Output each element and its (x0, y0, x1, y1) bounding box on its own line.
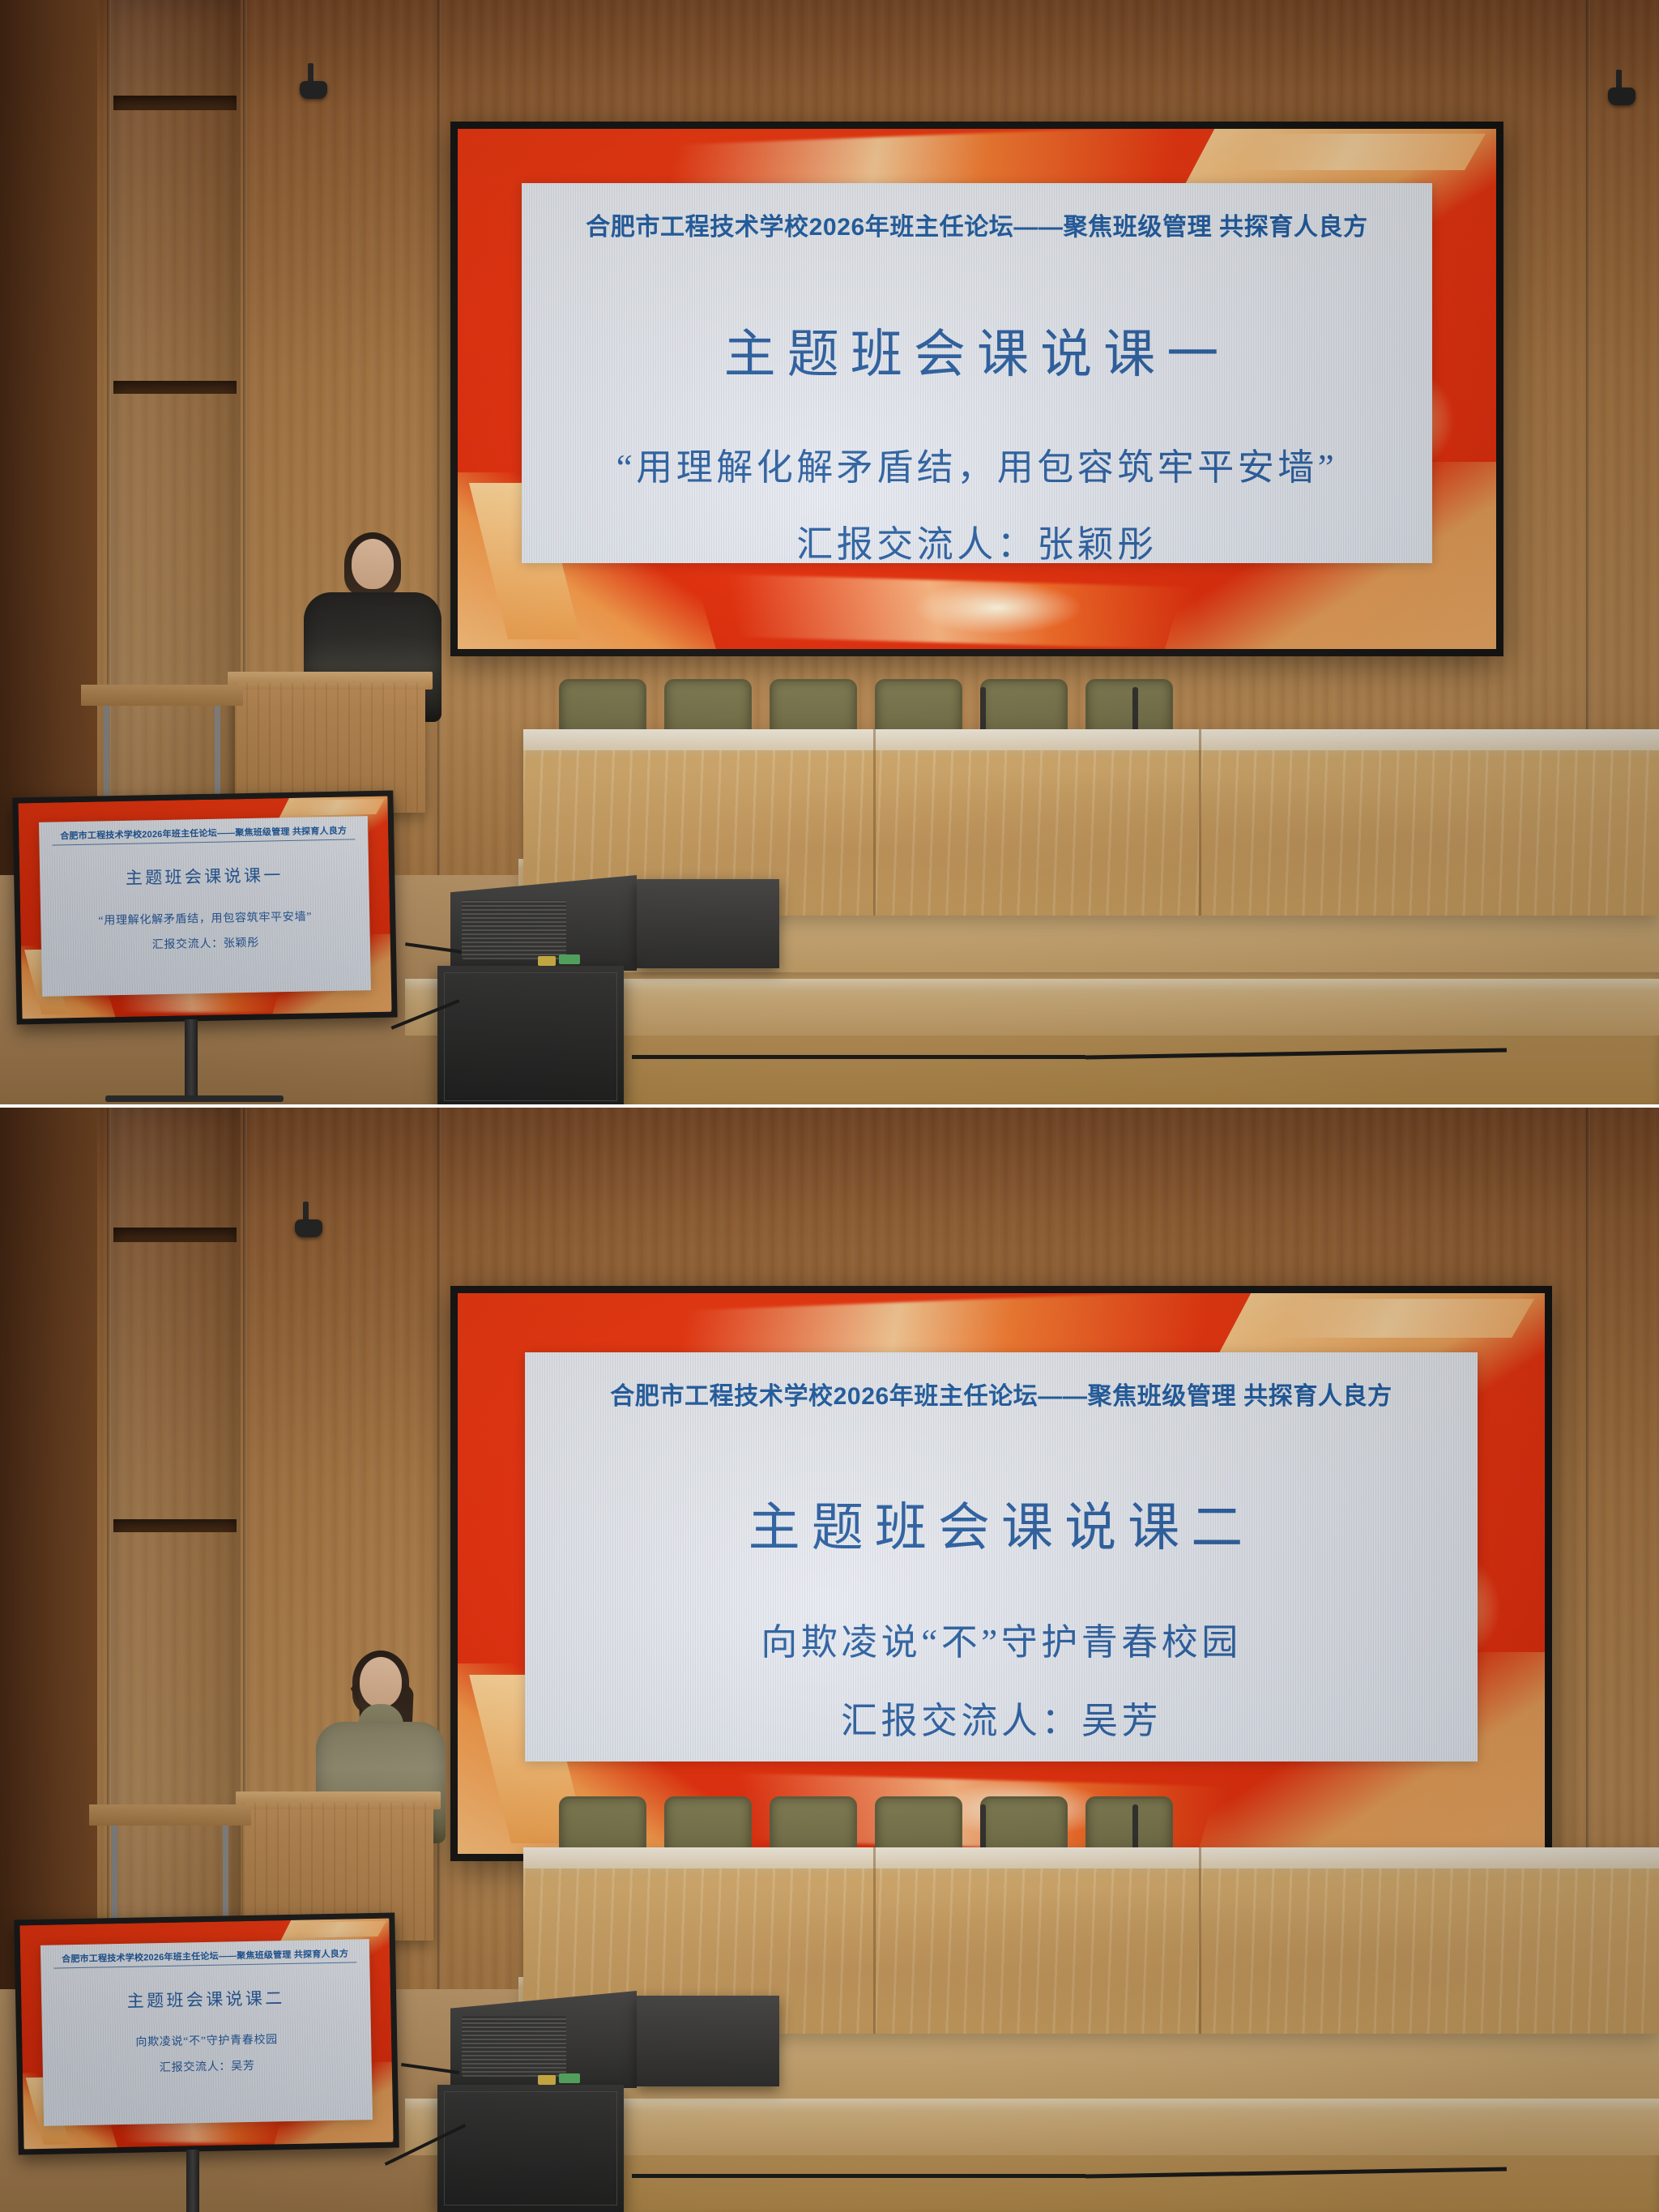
monitor-foot (105, 1095, 284, 1102)
collage-seam (0, 1104, 1659, 1108)
monitor-slide-title: 主题班会课说课一 (126, 862, 284, 890)
wall-niche (113, 381, 237, 394)
slide-presenter: 汇报交流人：张颖彤 (796, 515, 1158, 567)
led-video-wall: 合肥市工程技术学校2026年班主任论坛——聚焦班级管理 共探育人良方 主题班会课… (450, 122, 1503, 656)
monitor-stand (186, 2150, 199, 2212)
yellow-tape-marker (538, 956, 556, 966)
green-tape-marker (559, 954, 580, 964)
wall-niche (113, 1228, 237, 1242)
cable (632, 1055, 1085, 1059)
side-table (89, 1804, 251, 1826)
desk-divider (873, 729, 876, 916)
amplifier-rack-icon (437, 2085, 624, 2212)
monitor-slide-presenter: 汇报交流人：吴芳 (160, 2057, 255, 2075)
monitor-slide-card: 合肥市工程技术学校2026年班主任论坛——聚焦班级管理 共探育人良方 主题班会课… (39, 816, 371, 997)
slide-content-card: 合肥市工程技术学校2026年班主任论坛——聚焦班级管理 共探育人良方 主题班会课… (525, 1352, 1478, 1761)
slide-header: 合肥市工程技术学校2026年班主任论坛——聚焦班级管理 共探育人良方 (564, 207, 1391, 242)
cable (632, 2174, 1085, 2178)
photo-bottom: 合肥市工程技术学校2026年班主任论坛——聚焦班级管理 共探育人良方 主题班会课… (0, 1106, 1659, 2212)
slide-title: 主题班会课说课二 (748, 1486, 1255, 1561)
monitor-slide-subtitle: 向欺凌说“不”守护青春校园 (135, 2031, 278, 2050)
photo-top: 合肥市工程技术学校2026年班主任论坛——聚焦班级管理 共探育人良方 主题班会课… (0, 0, 1659, 1106)
monitor-stand (185, 1019, 198, 1100)
gooseneck-microphone-icon (1132, 687, 1138, 734)
two-photo-collage: 合肥市工程技术学校2026年班主任论坛——聚焦班级管理 共探育人良方 主题班会课… (0, 0, 1659, 2212)
slide-content-card: 合肥市工程技术学校2026年班主任论坛——聚焦班级管理 共探育人良方 主题班会课… (522, 183, 1431, 563)
stage-monitor-speaker-icon (637, 879, 779, 968)
stage-monitor-speaker-icon (637, 1996, 779, 2086)
slide-header: 合肥市工程技术学校2026年班主任论坛——聚焦班级管理 共探育人良方 (569, 1376, 1434, 1411)
slide-title: 主题班会课说课一 (724, 313, 1230, 387)
side-table (81, 685, 243, 706)
green-tape-marker (559, 2073, 580, 2083)
monitor-slide-presenter: 汇报交流人：张颖彤 (152, 933, 260, 952)
slide-subtitle: 向欺凌说“不”守护青春校园 (761, 1612, 1241, 1665)
wall-niche (113, 1519, 237, 1532)
slide-subtitle: “用理解化解矛盾结，用包容筑牢平安墙” (616, 438, 1337, 490)
wall-niche (113, 96, 237, 110)
gooseneck-microphone-icon (980, 1804, 986, 1851)
monitor-slide-title: 主题班会课说课二 (126, 1985, 284, 2013)
monitor-slide-subtitle: “用理解化解矛盾结，用包容筑牢平安墙” (98, 907, 312, 928)
desk-divider (1199, 729, 1201, 916)
slide-presenter: 汇报交流人：吴芳 (841, 1691, 1162, 1744)
desk-divider (873, 1847, 876, 2034)
led-video-wall: 合肥市工程技术学校2026年班主任论坛——聚焦班级管理 共探育人良方 主题班会课… (450, 1286, 1552, 1861)
desk-divider (1199, 1847, 1201, 2034)
yellow-tape-marker (538, 2075, 556, 2085)
confidence-monitor: 合肥市工程技术学校2026年班主任论坛——聚焦班级管理 共探育人良方 主题班会课… (14, 1913, 399, 2155)
monitor-slide-card: 合肥市工程技术学校2026年班主任论坛——聚焦班级管理 共探育人良方 主题班会课… (41, 1939, 373, 2126)
amplifier-rack-icon (437, 966, 624, 1106)
gooseneck-microphone-icon (1132, 1804, 1138, 1851)
confidence-monitor: 合肥市工程技术学校2026年班主任论坛——聚焦班级管理 共探育人良方 主题班会课… (12, 791, 397, 1025)
gooseneck-microphone-icon (980, 687, 986, 734)
